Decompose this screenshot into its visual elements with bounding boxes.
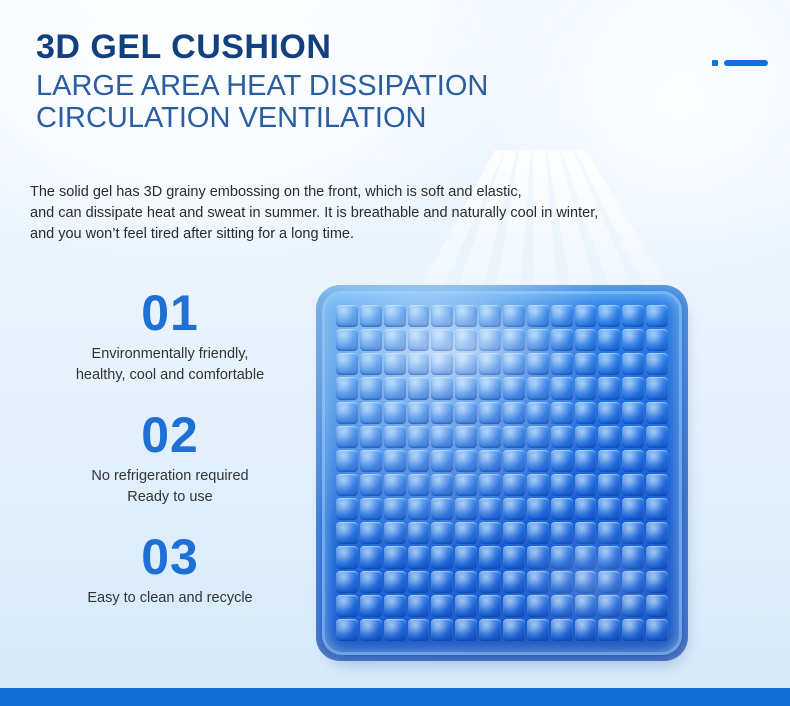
page-subtitle-line1: LARGE AREA HEAT DISSIPATION xyxy=(36,70,696,102)
gel-cell xyxy=(455,498,477,520)
gel-cell xyxy=(336,329,358,351)
gel-cell xyxy=(479,353,501,375)
gel-cell xyxy=(622,329,644,351)
gel-cell xyxy=(575,353,597,375)
gel-cell xyxy=(360,498,382,520)
gel-cell xyxy=(384,522,406,544)
gel-cell xyxy=(503,402,525,424)
gel-cell xyxy=(551,329,573,351)
gel-cell xyxy=(408,546,430,568)
gel-cell xyxy=(551,474,573,496)
gel-cell xyxy=(527,498,549,520)
gel-cell xyxy=(408,571,430,593)
product-image xyxy=(316,285,696,672)
gel-cell xyxy=(479,595,501,617)
feature-number-3: 03 xyxy=(40,530,300,584)
gel-cell xyxy=(384,474,406,496)
gel-cell xyxy=(503,474,525,496)
gel-cell xyxy=(384,329,406,351)
gel-cell xyxy=(646,450,668,472)
gel-cell xyxy=(646,546,668,568)
gel-cell xyxy=(408,402,430,424)
gel-cell xyxy=(646,426,668,448)
feature-item-3: 03 Easy to clean and recycle xyxy=(40,530,300,609)
gel-cell xyxy=(479,305,501,327)
gel-cell xyxy=(575,329,597,351)
gel-cell xyxy=(551,402,573,424)
gel-cell xyxy=(598,353,620,375)
gel-cell xyxy=(384,546,406,568)
gel-cell xyxy=(360,571,382,593)
dash-icon xyxy=(724,60,768,66)
gel-cell xyxy=(455,402,477,424)
gel-cell xyxy=(503,546,525,568)
gel-cell xyxy=(336,450,358,472)
gel-cell xyxy=(646,305,668,327)
gel-cell xyxy=(503,377,525,399)
gel-cell xyxy=(527,426,549,448)
gel-cell xyxy=(360,377,382,399)
gel-cell xyxy=(336,571,358,593)
gel-cell xyxy=(575,305,597,327)
gel-cell xyxy=(408,450,430,472)
gel-cell xyxy=(455,329,477,351)
gel-cell xyxy=(551,619,573,641)
gel-cell xyxy=(360,450,382,472)
gel-cell xyxy=(622,426,644,448)
gel-cell xyxy=(598,402,620,424)
gel-cell xyxy=(575,426,597,448)
gel-cell xyxy=(455,305,477,327)
gel-cell xyxy=(527,329,549,351)
gel-cell xyxy=(384,571,406,593)
gel-cell xyxy=(384,619,406,641)
gel-cell xyxy=(479,498,501,520)
gel-cell xyxy=(622,498,644,520)
bottom-accent-bar xyxy=(0,688,790,706)
gel-cell xyxy=(598,522,620,544)
gel-cell xyxy=(384,353,406,375)
gel-cell xyxy=(646,474,668,496)
gel-cell xyxy=(479,377,501,399)
feature-item-2: 02 No refrigeration required Ready to us… xyxy=(40,408,300,508)
gel-cell xyxy=(527,474,549,496)
gel-cell xyxy=(551,426,573,448)
gel-cell xyxy=(551,450,573,472)
gel-cell xyxy=(646,402,668,424)
gel-cell xyxy=(408,619,430,641)
gel-cell xyxy=(360,353,382,375)
gel-cell xyxy=(622,450,644,472)
description-block: The solid gel has 3D grainy embossing on… xyxy=(30,182,710,245)
gel-cell xyxy=(479,474,501,496)
gel-cell xyxy=(336,595,358,617)
gel-cell xyxy=(336,305,358,327)
gel-cell xyxy=(360,426,382,448)
gel-cell xyxy=(336,474,358,496)
gel-cell xyxy=(503,522,525,544)
gel-cell xyxy=(598,377,620,399)
gel-cell xyxy=(408,522,430,544)
page-subtitle-line2: CIRCULATION VENTILATION xyxy=(36,102,696,134)
gel-cell xyxy=(622,305,644,327)
gel-cell xyxy=(336,619,358,641)
gel-cell xyxy=(527,353,549,375)
gel-cell xyxy=(503,498,525,520)
feature-text-3-line1: Easy to clean and recycle xyxy=(40,588,300,609)
gel-cell xyxy=(575,474,597,496)
gel-cell xyxy=(575,619,597,641)
gel-cell xyxy=(598,571,620,593)
gel-cell xyxy=(336,402,358,424)
gel-cell xyxy=(360,402,382,424)
description-line-3: and you won’t feel tired after sitting f… xyxy=(30,224,710,245)
feature-number-1: 01 xyxy=(40,286,300,340)
gel-cell xyxy=(646,522,668,544)
gel-cell xyxy=(455,377,477,399)
feature-text-2: No refrigeration required Ready to use xyxy=(40,466,300,508)
gel-cell xyxy=(527,546,549,568)
gel-cell xyxy=(551,546,573,568)
gel-cell xyxy=(408,329,430,351)
gel-cell xyxy=(455,353,477,375)
gel-cell xyxy=(431,450,453,472)
gel-cell xyxy=(455,595,477,617)
gel-cell xyxy=(431,329,453,351)
gel-cell xyxy=(431,474,453,496)
gel-cell xyxy=(408,498,430,520)
poster-page: 3D GEL CUSHION LARGE AREA HEAT DISSIPATI… xyxy=(0,0,790,706)
gel-cell xyxy=(455,619,477,641)
gel-cell xyxy=(646,353,668,375)
gel-cell xyxy=(646,571,668,593)
gel-cell xyxy=(503,619,525,641)
feature-text-1-line2: healthy, cool and comfortable xyxy=(40,365,300,386)
gel-cell xyxy=(575,498,597,520)
description-line-2: and can dissipate heat and sweat in summ… xyxy=(30,203,710,224)
gel-cell xyxy=(431,353,453,375)
gel-cell xyxy=(646,619,668,641)
gel-cell xyxy=(646,595,668,617)
gel-cell xyxy=(551,571,573,593)
gel-cell xyxy=(575,450,597,472)
feature-text-2-line1: No refrigeration required xyxy=(40,466,300,487)
gel-cell xyxy=(431,522,453,544)
gel-cell xyxy=(455,426,477,448)
gel-cell xyxy=(646,377,668,399)
gel-cell xyxy=(431,546,453,568)
gel-cell xyxy=(503,595,525,617)
decoration-mark xyxy=(712,60,768,66)
gel-cell xyxy=(503,426,525,448)
gel-cell xyxy=(431,498,453,520)
gel-cell xyxy=(527,305,549,327)
gel-cell xyxy=(408,595,430,617)
gel-cell xyxy=(408,474,430,496)
gel-cell xyxy=(551,595,573,617)
gel-cell-grid xyxy=(336,305,668,641)
gel-cell xyxy=(479,426,501,448)
gel-cell xyxy=(479,522,501,544)
gel-cell xyxy=(336,353,358,375)
gel-cell xyxy=(646,498,668,520)
gel-cushion-pad xyxy=(316,285,688,661)
gel-cell xyxy=(455,571,477,593)
gel-cell xyxy=(598,619,620,641)
gel-cell xyxy=(575,377,597,399)
gel-cell xyxy=(551,498,573,520)
gel-cell xyxy=(455,450,477,472)
gel-cell xyxy=(503,571,525,593)
gel-cell xyxy=(527,595,549,617)
gel-cell xyxy=(431,595,453,617)
gel-cell xyxy=(360,305,382,327)
gel-cell xyxy=(431,377,453,399)
gel-cell xyxy=(598,546,620,568)
feature-text-1: Environmentally friendly, healthy, cool … xyxy=(40,344,300,386)
gel-cell xyxy=(479,571,501,593)
page-title: 3D GEL CUSHION xyxy=(36,26,696,68)
gel-cell xyxy=(431,426,453,448)
gel-cell xyxy=(479,619,501,641)
feature-list: 01 Environmentally friendly, healthy, co… xyxy=(40,286,300,631)
gel-cell xyxy=(622,377,644,399)
gel-cell xyxy=(646,329,668,351)
gel-cell xyxy=(384,377,406,399)
feature-text-1-line1: Environmentally friendly, xyxy=(40,344,300,365)
gel-cell xyxy=(598,498,620,520)
gel-cell xyxy=(479,546,501,568)
gel-cell xyxy=(384,402,406,424)
gel-cell xyxy=(384,305,406,327)
gel-cell xyxy=(479,329,501,351)
gel-cell xyxy=(408,426,430,448)
gel-cell xyxy=(455,474,477,496)
square-dot-icon xyxy=(712,60,718,66)
gel-cell xyxy=(622,619,644,641)
gel-cell xyxy=(336,522,358,544)
gel-cell xyxy=(551,377,573,399)
gel-cell xyxy=(527,402,549,424)
gel-cell xyxy=(455,546,477,568)
feature-text-2-line2: Ready to use xyxy=(40,487,300,508)
gel-cell xyxy=(503,305,525,327)
gel-cell xyxy=(598,450,620,472)
gel-cell xyxy=(622,522,644,544)
gel-cell xyxy=(431,571,453,593)
gel-cell xyxy=(360,619,382,641)
gel-cell xyxy=(598,474,620,496)
gel-cell xyxy=(575,595,597,617)
gel-cell xyxy=(336,426,358,448)
gel-cell xyxy=(360,474,382,496)
gel-cell xyxy=(551,353,573,375)
gel-cell xyxy=(384,498,406,520)
gel-cell xyxy=(551,305,573,327)
gel-cell xyxy=(408,377,430,399)
gel-cell xyxy=(503,329,525,351)
gel-cell xyxy=(622,353,644,375)
gel-cell xyxy=(527,619,549,641)
gel-cell xyxy=(360,546,382,568)
gel-cell xyxy=(575,571,597,593)
gel-cell xyxy=(575,546,597,568)
gel-cell xyxy=(527,571,549,593)
gel-cell xyxy=(384,450,406,472)
gel-cell xyxy=(503,450,525,472)
gel-cell xyxy=(336,377,358,399)
gel-cell xyxy=(431,402,453,424)
gel-cell xyxy=(408,353,430,375)
gel-cell xyxy=(598,305,620,327)
gel-cell xyxy=(622,595,644,617)
feature-item-1: 01 Environmentally friendly, healthy, co… xyxy=(40,286,300,386)
description-line-1: The solid gel has 3D grainy embossing on… xyxy=(30,182,710,203)
gel-cell xyxy=(384,426,406,448)
gel-cell xyxy=(455,522,477,544)
feature-text-3: Easy to clean and recycle xyxy=(40,588,300,609)
gel-cell xyxy=(336,546,358,568)
gel-cell xyxy=(503,353,525,375)
gel-cell xyxy=(431,305,453,327)
title-block: 3D GEL CUSHION LARGE AREA HEAT DISSIPATI… xyxy=(36,26,696,134)
gel-cell xyxy=(575,402,597,424)
gel-cell xyxy=(527,377,549,399)
gel-cell xyxy=(479,450,501,472)
gel-cell xyxy=(622,571,644,593)
gel-cell xyxy=(360,522,382,544)
gel-cell xyxy=(551,522,573,544)
gel-cell xyxy=(575,522,597,544)
gel-cell xyxy=(479,402,501,424)
gel-cell xyxy=(622,546,644,568)
gel-cell xyxy=(360,329,382,351)
gel-cell xyxy=(622,474,644,496)
gel-cell xyxy=(336,498,358,520)
gel-cell xyxy=(384,595,406,617)
gel-cell xyxy=(527,522,549,544)
gel-cell xyxy=(622,402,644,424)
gel-cell xyxy=(408,305,430,327)
gel-cell xyxy=(527,450,549,472)
gel-cell xyxy=(431,619,453,641)
feature-number-2: 02 xyxy=(40,408,300,462)
gel-cell xyxy=(598,329,620,351)
gel-cell xyxy=(598,426,620,448)
gel-cell xyxy=(360,595,382,617)
gel-cell xyxy=(598,595,620,617)
